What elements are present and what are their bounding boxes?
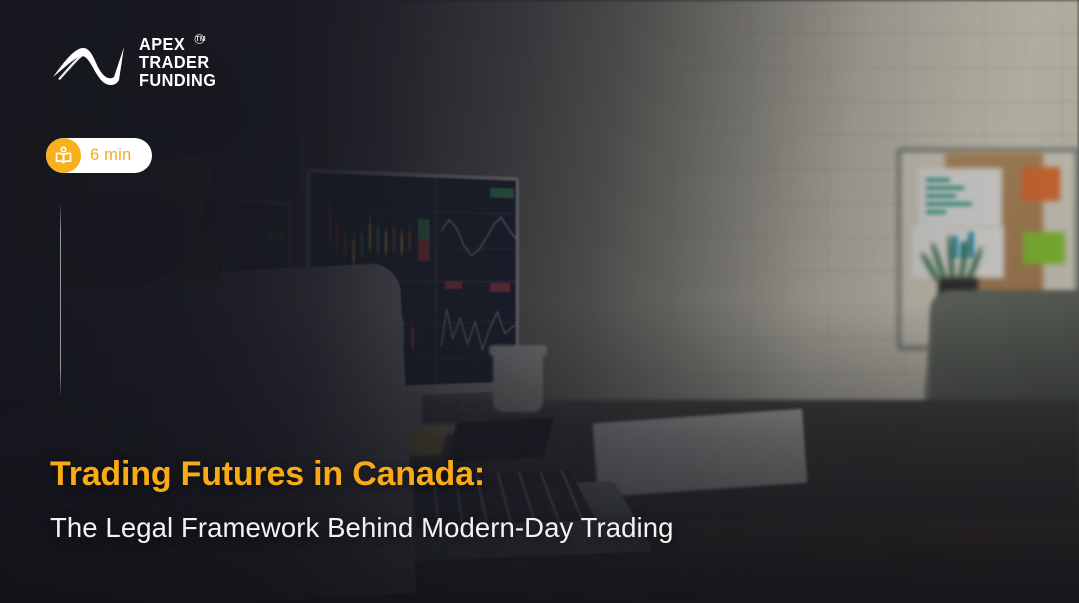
brand-logo[interactable]: APEX TRADER FUNDING TM: [50, 36, 222, 90]
brand-line-2: TRADER: [139, 54, 216, 72]
page-subtitle: The Legal Framework Behind Modern-Day Tr…: [50, 512, 674, 544]
trademark-icon: TM: [194, 34, 204, 44]
page-title: Trading Futures in Canada:: [50, 455, 485, 494]
read-time-label: 6 min: [90, 146, 131, 165]
brand-wordmark: APEX TRADER FUNDING TM: [139, 36, 216, 90]
reading-person-icon: [46, 138, 81, 173]
read-time-badge[interactable]: 6 min: [46, 138, 152, 173]
brand-line-3: FUNDING: [139, 72, 216, 90]
vertical-accent-line: [60, 205, 61, 395]
article-hero-banner: APEX TRADER FUNDING TM 6 min Trading Fut…: [0, 0, 1079, 603]
apex-trader-funding-logo-mark: [50, 39, 128, 87]
photo-bottom-overlay: [0, 303, 1079, 603]
